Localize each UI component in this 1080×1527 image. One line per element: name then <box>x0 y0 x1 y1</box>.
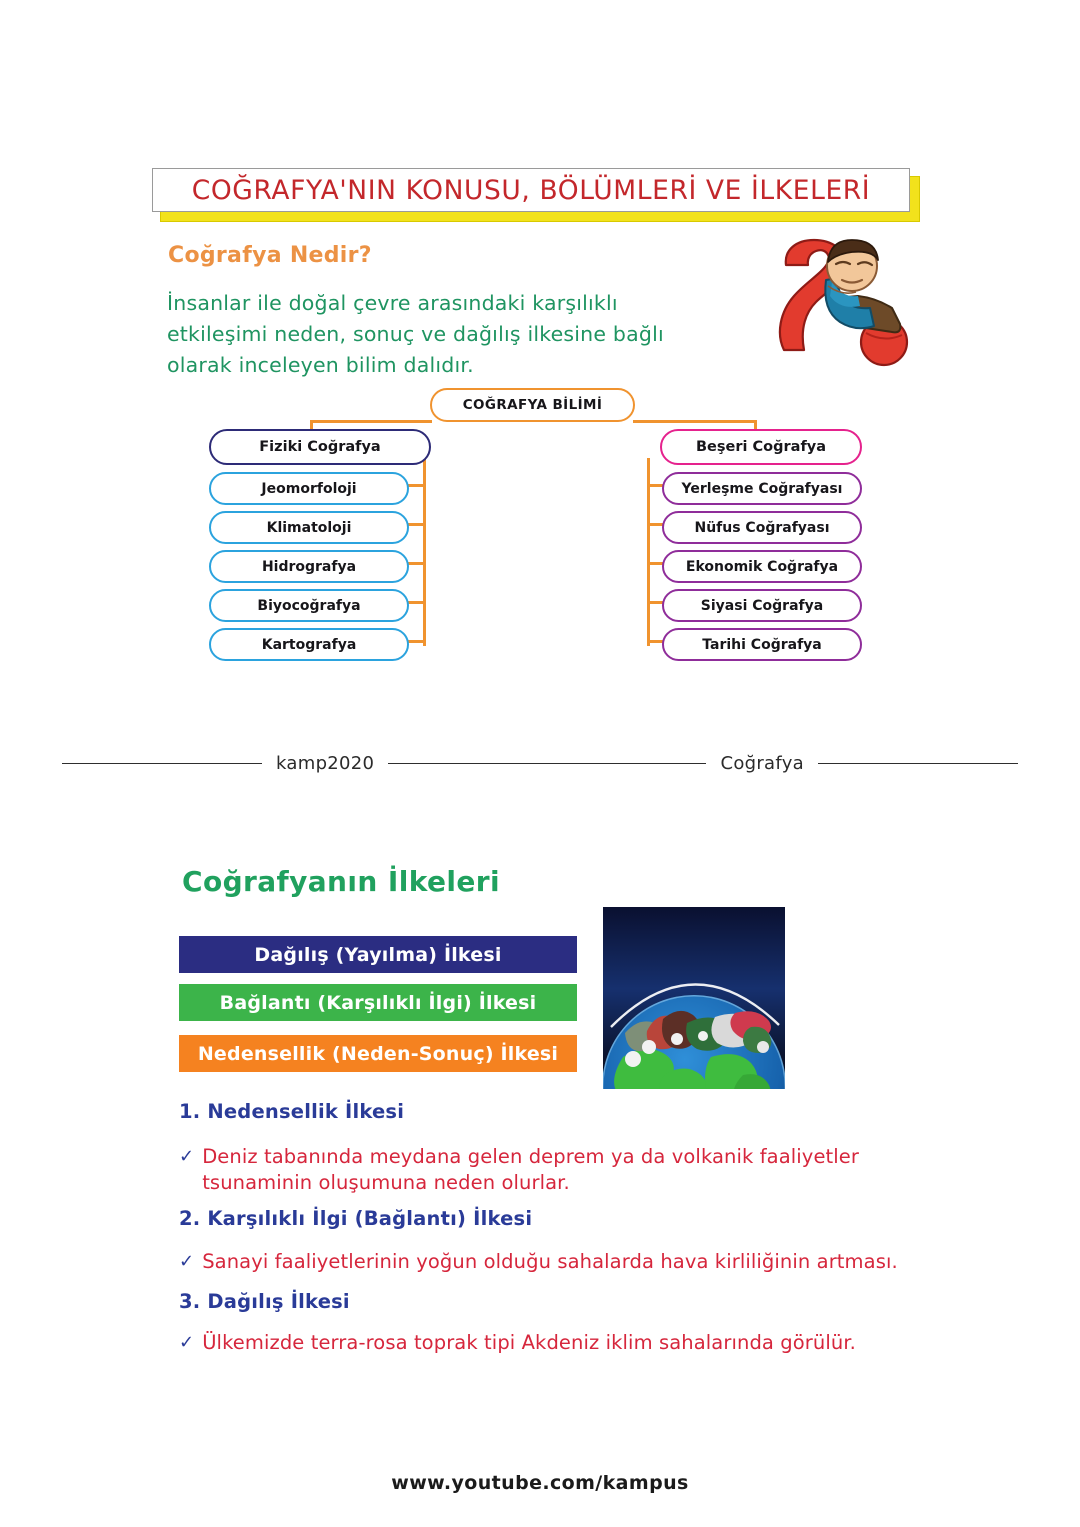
document-title-banner: COĞRAFYA'NIN KONUSU, BÖLÜMLERİ VE İLKELE… <box>152 168 910 212</box>
principle-entry-1-example: ✓ Deniz tabanında meydana gelen deprem y… <box>179 1144 939 1196</box>
page-divider: kamp2020 Coğrafya <box>62 745 1018 781</box>
connector-root-right-horizontal <box>633 420 757 423</box>
question-mark-boy-icon <box>766 238 926 370</box>
connector-left-tick-1 <box>407 484 426 487</box>
principle-entry-3-heading: 3. Dağılış İlkesi <box>179 1290 350 1313</box>
principle-bar-baglanti: Bağlantı (Karşılıklı İlgi) İlkesi <box>179 984 577 1021</box>
principle-entry-3-text: Ülkemizde terra-rosa toprak tipi Akdeniz… <box>202 1330 939 1356</box>
diagram-node-fiziki-cografya: Fiziki Coğrafya <box>209 429 431 465</box>
definition-line-1: İnsanlar ile doğal çevre arasındaki karş… <box>167 288 740 319</box>
divider-rule-middle <box>388 763 706 764</box>
divider-label-kamp2020: kamp2020 <box>262 753 388 774</box>
check-icon: ✓ <box>179 1144 194 1170</box>
earth-from-space-image <box>603 907 785 1089</box>
diagram-node-klimatoloji: Klimatoloji <box>209 511 409 544</box>
definition-paragraph: İnsanlar ile doğal çevre arasındaki karş… <box>167 288 740 381</box>
check-icon: ✓ <box>179 1330 194 1356</box>
principle-entry-2-example: ✓ Sanayi faaliyetlerinin yoğun olduğu sa… <box>179 1249 939 1275</box>
principles-heading: Coğrafyanın İlkeleri <box>182 865 500 898</box>
principle-bar-nedensellik: Nedensellik (Neden-Sonuç) İlkesi <box>179 1035 577 1072</box>
diagram-node-root: COĞRAFYA BİLİMİ <box>430 388 635 422</box>
connector-left-tick-4 <box>407 601 426 604</box>
diagram-node-yerlesme-cografyasi: Yerleşme Coğrafyası <box>662 472 862 505</box>
geography-branches-diagram: COĞRAFYA BİLİMİ Fiziki Coğrafya Jeomorfo… <box>195 388 885 668</box>
diagram-node-jeomorfoloji: Jeomorfoloji <box>209 472 409 505</box>
diagram-node-siyasi-cografya: Siyasi Coğrafya <box>662 589 862 622</box>
document-page: COĞRAFYA'NIN KONUSU, BÖLÜMLERİ VE İLKELE… <box>0 0 1080 1527</box>
diagram-node-biyocografya: Biyocoğrafya <box>209 589 409 622</box>
diagram-node-tarihi-cografya: Tarihi Coğrafya <box>662 628 862 661</box>
page-title: COĞRAFYA'NIN KONUSU, BÖLÜMLERİ VE İLKELE… <box>192 175 870 206</box>
divider-rule-left <box>62 763 262 764</box>
definition-heading: Coğrafya Nedir? <box>168 243 372 268</box>
connector-left-tick-5 <box>407 640 426 643</box>
principle-entry-1-text: Deniz tabanında meydana gelen deprem ya … <box>202 1144 939 1196</box>
connector-left-tick-3 <box>407 562 426 565</box>
divider-label-cografya: Coğrafya <box>706 753 818 774</box>
divider-rule-right <box>818 763 1018 764</box>
diagram-node-kartografya: Kartografya <box>209 628 409 661</box>
diagram-node-nufus-cografyasi: Nüfus Coğrafyası <box>662 511 862 544</box>
principle-entry-1-heading: 1. Nedensellik İlkesi <box>179 1100 404 1123</box>
principle-entry-2-text: Sanayi faaliyetlerinin yoğun olduğu saha… <box>202 1249 939 1275</box>
definition-line-2: etkileşimi neden, sonuç ve dağılış ilkes… <box>167 319 740 350</box>
connector-root-left-horizontal <box>310 420 432 423</box>
principle-bar-dagilis: Dağılış (Yayılma) İlkesi <box>179 936 577 973</box>
check-icon: ✓ <box>179 1249 194 1275</box>
diagram-node-hidrografya: Hidrografya <box>209 550 409 583</box>
title-box: COĞRAFYA'NIN KONUSU, BÖLÜMLERİ VE İLKELE… <box>152 168 910 212</box>
principle-entry-3-example: ✓ Ülkemizde terra-rosa toprak tipi Akden… <box>179 1330 939 1356</box>
footer-url: www.youtube.com/kampus <box>0 1472 1080 1494</box>
definition-line-3: olarak inceleyen bilim dalıdır. <box>167 350 740 381</box>
diagram-node-beseri-cografya: Beşeri Coğrafya <box>660 429 862 465</box>
diagram-node-ekonomik-cografya: Ekonomik Coğrafya <box>662 550 862 583</box>
connector-left-tick-2 <box>407 523 426 526</box>
principle-entry-2-heading: 2. Karşılıklı İlgi (Bağlantı) İlkesi <box>179 1207 532 1230</box>
